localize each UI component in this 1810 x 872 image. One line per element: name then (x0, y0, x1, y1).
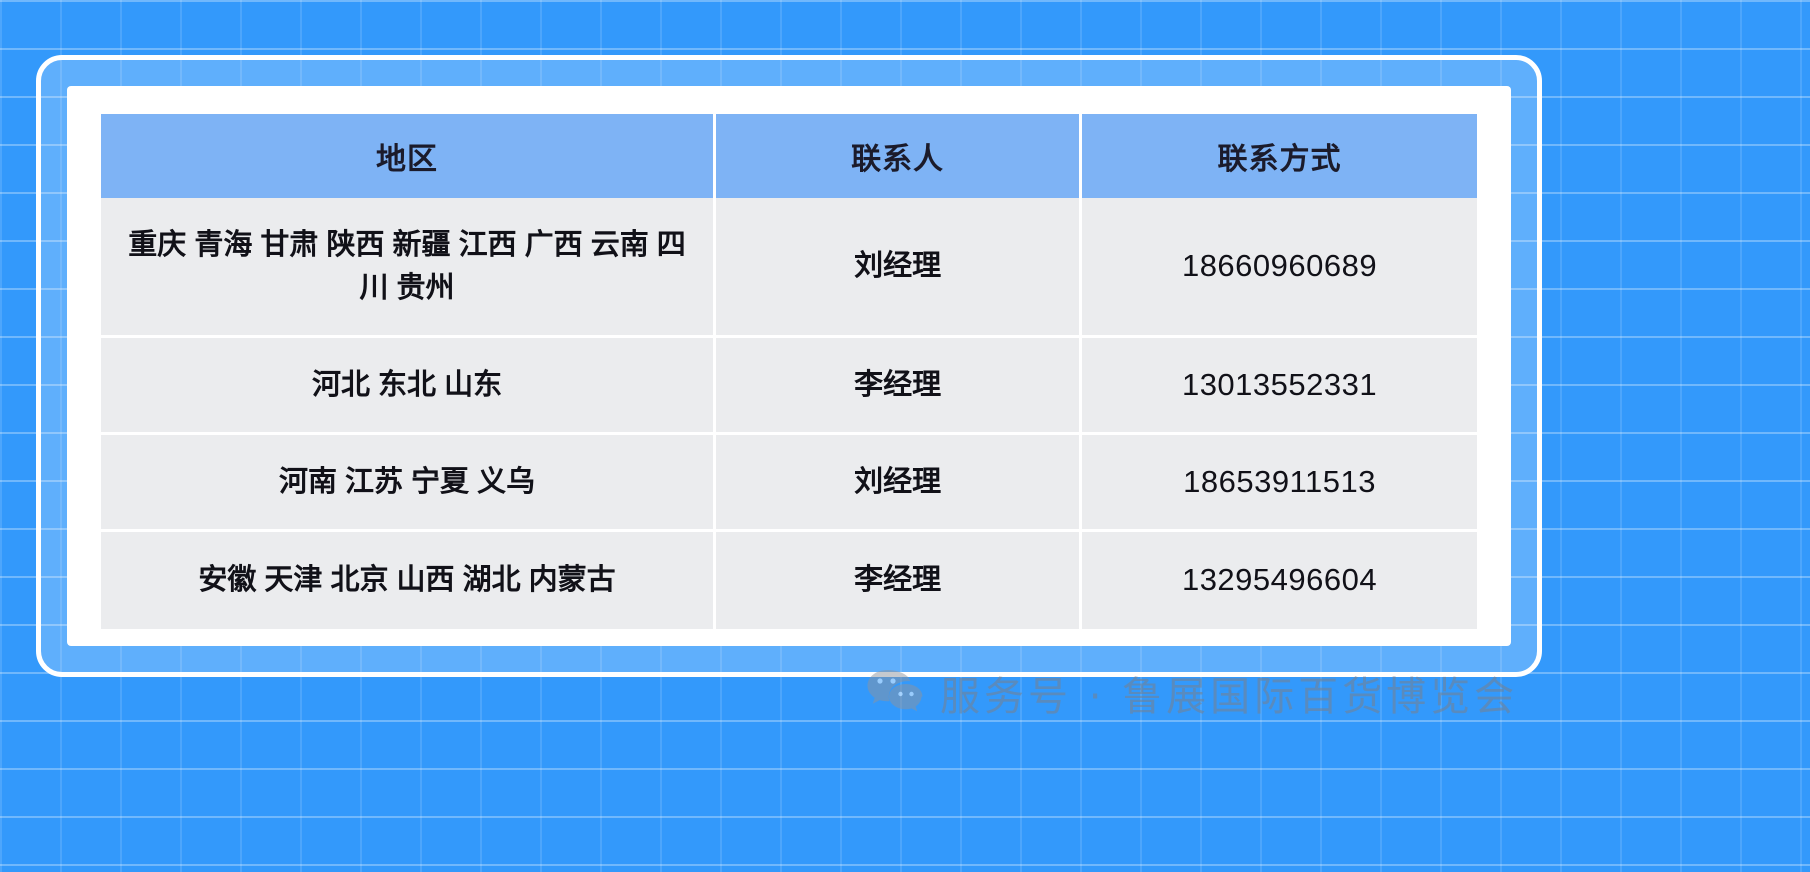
contact-table: 地区 联系人 联系方式 重庆 青海 甘肃 陕西 新疆 江西 广西 云南 四川 贵… (101, 114, 1477, 629)
table-row: 重庆 青海 甘肃 陕西 新疆 江西 广西 云南 四川 贵州 刘经理 186609… (101, 198, 1477, 338)
cell-person: 刘经理 (716, 198, 1082, 338)
cell-region: 重庆 青海 甘肃 陕西 新疆 江西 广西 云南 四川 贵州 (101, 198, 716, 338)
table-header-row: 地区 联系人 联系方式 (101, 114, 1477, 198)
outer-panel: 地区 联系人 联系方式 重庆 青海 甘肃 陕西 新疆 江西 广西 云南 四川 贵… (36, 55, 1542, 677)
content-card: 地区 联系人 联系方式 重庆 青海 甘肃 陕西 新疆 江西 广西 云南 四川 贵… (67, 86, 1511, 646)
column-header-region: 地区 (101, 114, 716, 198)
cell-person: 李经理 (716, 338, 1082, 435)
cell-region: 安徽 天津 北京 山西 湖北 内蒙古 (101, 532, 716, 629)
table-header: 地区 联系人 联系方式 (101, 114, 1477, 198)
cell-phone: 18660960689 (1082, 198, 1477, 338)
cell-region: 河北 东北 山东 (101, 338, 716, 435)
cell-person: 李经理 (716, 532, 1082, 629)
cell-region: 河南 江苏 宁夏 义乌 (101, 435, 716, 532)
table-row: 河北 东北 山东 李经理 13013552331 (101, 338, 1477, 435)
table-row: 河南 江苏 宁夏 义乌 刘经理 18653911513 (101, 435, 1477, 532)
table-row: 安徽 天津 北京 山西 湖北 内蒙古 李经理 13295496604 (101, 532, 1477, 629)
cell-person: 刘经理 (716, 435, 1082, 532)
column-header-person: 联系人 (716, 114, 1082, 198)
column-header-phone: 联系方式 (1082, 114, 1477, 198)
table-body: 重庆 青海 甘肃 陕西 新疆 江西 广西 云南 四川 贵州 刘经理 186609… (101, 198, 1477, 629)
cell-phone: 13013552331 (1082, 338, 1477, 435)
cell-phone: 18653911513 (1082, 435, 1477, 532)
cell-phone: 13295496604 (1082, 532, 1477, 629)
